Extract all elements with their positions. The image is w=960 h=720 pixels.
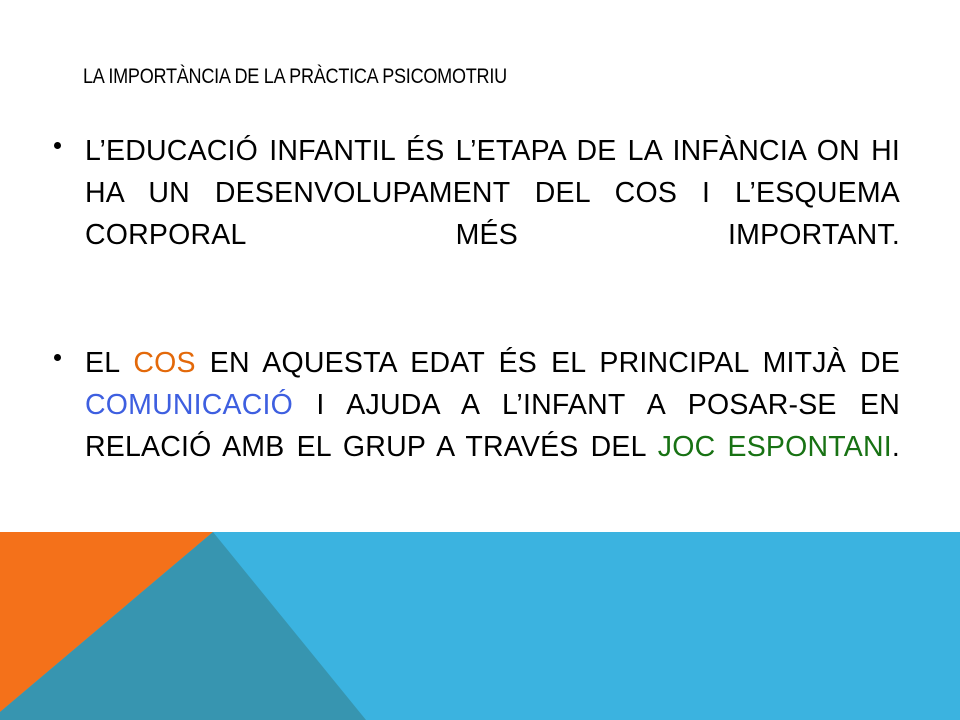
- bullet-item-1: L’EDUCACIÓ INFANTIL ÉS L’ETAPA DE LA INF…: [0, 130, 960, 298]
- bullet-text-2: EL COS EN AQUESTA EDAT ÉS EL PRINCIPAL M…: [85, 342, 900, 510]
- bullet-dot-icon: [54, 142, 61, 149]
- highlight-phrase-joc-espontani: JOC ESPONTANI: [658, 431, 892, 463]
- bullet-2-run-1: EL: [85, 347, 133, 379]
- bullet-text-1: L’EDUCACIÓ INFANTIL ÉS L’ETAPA DE LA INF…: [85, 130, 900, 298]
- bullet-2-run-3: EN AQUESTA EDAT ÉS EL PRINCIPAL MITJÀ DE: [196, 347, 900, 379]
- bullet-1-run-1: L’EDUCACIÓ INFANTIL ÉS L’ETAPA DE LA INF…: [85, 135, 900, 251]
- band-graphic: [0, 532, 960, 720]
- highlight-word-comunicacio: COMUNICACIÓ: [85, 389, 293, 421]
- bullet-dot-icon: [54, 354, 61, 361]
- bullet-item-2: EL COS EN AQUESTA EDAT ÉS EL PRINCIPAL M…: [0, 342, 960, 510]
- slide: LA IMPORTÀNCIA DE LA PRÀCTICA PSICOMOTRI…: [0, 0, 960, 720]
- bottom-color-band: [0, 532, 960, 720]
- bullet-2-run-7: .: [892, 431, 900, 463]
- slide-title: LA IMPORTÀNCIA DE LA PRÀCTICA PSICOMOTRI…: [83, 63, 772, 89]
- highlight-word-cos: COS: [133, 347, 195, 379]
- slide-body: L’EDUCACIÓ INFANTIL ÉS L’ETAPA DE LA INF…: [0, 130, 960, 530]
